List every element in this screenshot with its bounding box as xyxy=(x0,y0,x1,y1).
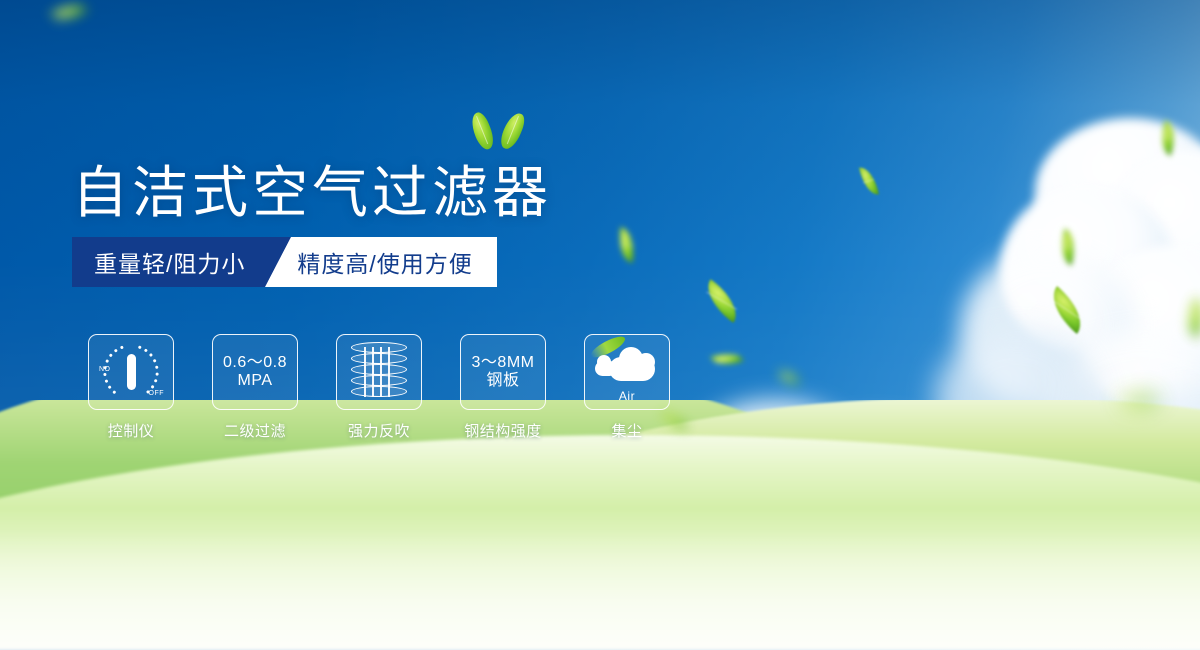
feature-icon-box: Air xyxy=(584,334,670,410)
feature-label: 控制仪 xyxy=(78,420,184,441)
subtitle-divider xyxy=(265,237,291,287)
air-label: Air xyxy=(593,389,661,403)
feature-item-two-stage-filter[interactable]: 0.6～0.8 MPA 二级过滤 xyxy=(202,334,308,441)
feature-list: NO OFF 控制仪 0.6～0.8 MPA 二级过滤 xyxy=(78,334,680,441)
feature-icon-box: 3～8MM 钢板 xyxy=(460,334,546,410)
sprout-leaf-left xyxy=(468,110,498,152)
cloud-body xyxy=(609,357,655,381)
subtitle-right: 精度高/使用方便 xyxy=(291,237,496,287)
control-dial-icon: NO OFF xyxy=(100,342,162,402)
cloud-air-icon: Air xyxy=(593,343,661,401)
feature-item-pulse-blowback[interactable]: 强力反吹 xyxy=(326,334,432,441)
feature-label: 钢结构强度 xyxy=(450,420,556,441)
feature-label: 二级过滤 xyxy=(202,420,308,441)
sprout-leaf-right xyxy=(498,110,528,152)
steel-text-icon: 3～8MM 钢板 xyxy=(472,354,535,390)
product-hero-banner: 自洁式空气过滤器 重量轻/阻力小 精度高/使用方便 xyxy=(0,0,1200,650)
page-title: 自洁式空气过滤器 xyxy=(72,148,552,229)
grass-haze xyxy=(0,530,1200,650)
feature-item-dust-collection[interactable]: Air 集尘 xyxy=(574,334,680,441)
feature-icon-box: 0.6～0.8 MPA xyxy=(212,334,298,410)
stacked-filter-icon xyxy=(351,342,407,402)
feature-icon-box xyxy=(336,334,422,410)
subtitle-left: 重量轻/阻力小 xyxy=(72,237,265,287)
feature-label: 强力反吹 xyxy=(326,420,432,441)
feature-icon-box: NO OFF xyxy=(88,334,174,410)
subtitle-bar: 重量轻/阻力小 精度高/使用方便 xyxy=(72,237,497,287)
dial-knob xyxy=(127,354,136,390)
dial-on-label: NO xyxy=(99,366,111,373)
feature-item-steel-strength[interactable]: 3～8MM 钢板 钢结构强度 xyxy=(450,334,556,441)
dial-off-label: OFF xyxy=(149,390,165,397)
feature-item-control-unit[interactable]: NO OFF 控制仪 xyxy=(78,334,184,441)
feature-label: 集尘 xyxy=(574,420,680,441)
pressure-text-icon: 0.6～0.8 MPA xyxy=(223,354,287,390)
